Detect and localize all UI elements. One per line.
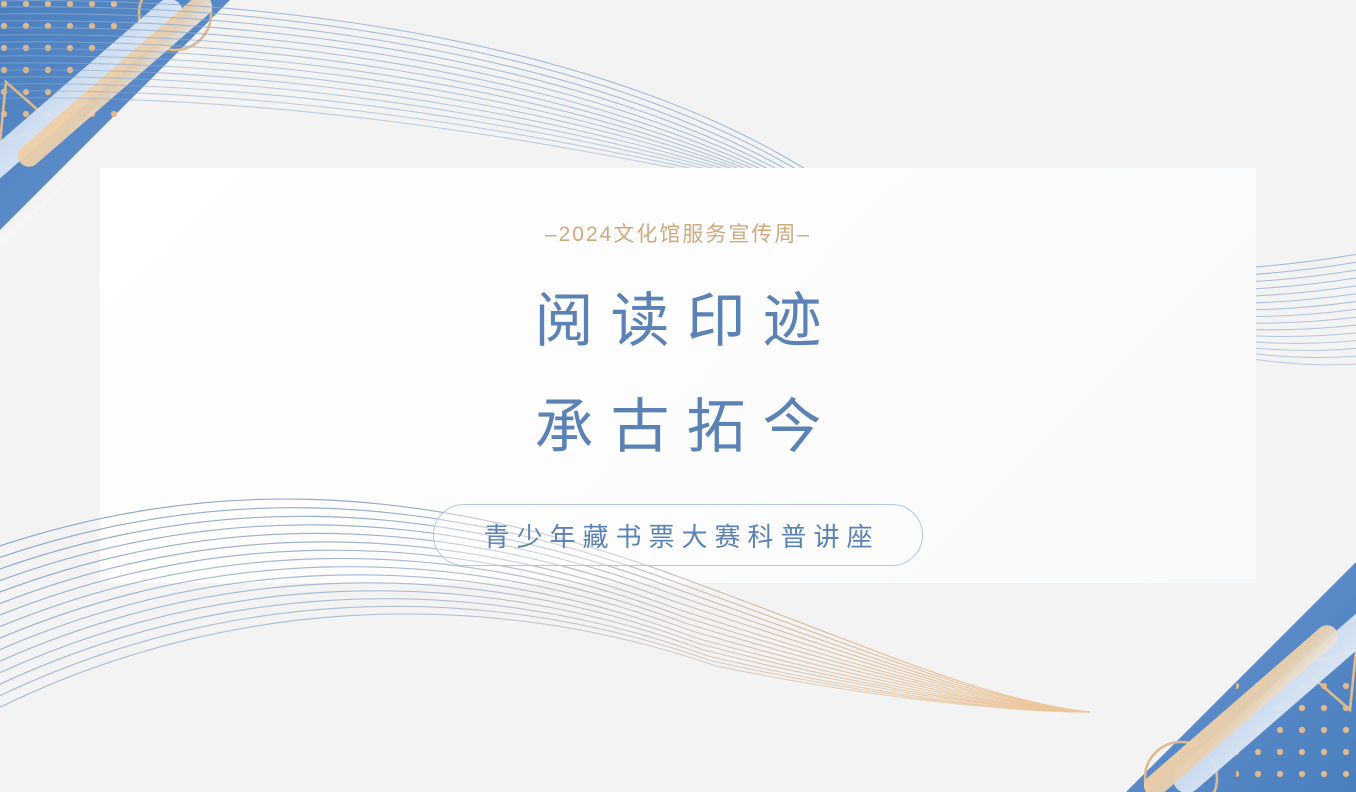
subtitle-pill[interactable]: 青少年藏书票大赛科普讲座 bbox=[433, 504, 922, 566]
poster-canvas: –2024文化馆服务宣传周– 阅读印迹 承古拓今 青少年藏书票大赛科普讲座 bbox=[0, 0, 1356, 792]
poster-content: –2024文化馆服务宣传周– 阅读印迹 承古拓今 青少年藏书票大赛科普讲座 bbox=[100, 168, 1256, 583]
bottom-right-corner-ornament bbox=[1126, 561, 1356, 792]
title-line-1: 阅读印迹 bbox=[517, 268, 838, 374]
subtitle-pill-label: 青少年藏书票大赛科普讲座 bbox=[476, 517, 879, 554]
eyebrow-text: –2024文化馆服务宣传周– bbox=[545, 218, 811, 248]
title-line-2: 承古拓今 bbox=[517, 374, 838, 480]
page-title: 阅读印迹 承古拓今 bbox=[517, 268, 838, 480]
